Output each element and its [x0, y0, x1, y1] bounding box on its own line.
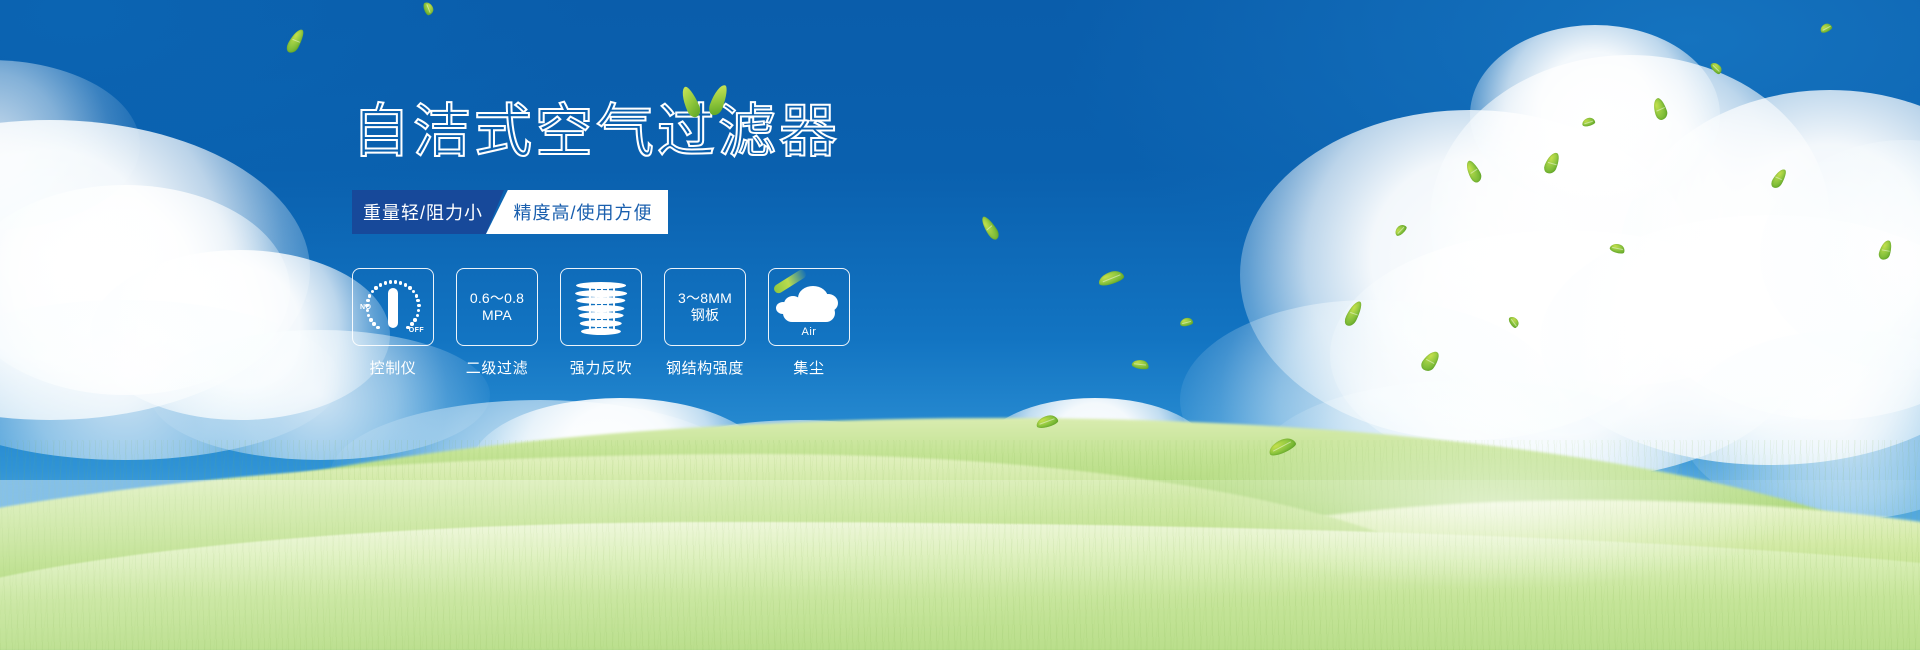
steel-plate-text: 3～8MM 钢板	[678, 290, 732, 324]
gauge-tick-dot	[394, 280, 397, 283]
gauge-tick-dot	[374, 286, 377, 289]
gauge-tick-dot	[376, 326, 379, 329]
grass-field	[0, 350, 1920, 650]
banner-content: 自洁式空气过滤器 重量轻/阻力小 精度高/使用方便 NO OFF 控制仪	[352, 96, 1072, 378]
filter-coil-icon	[573, 278, 629, 336]
feature-item: 3～8MM 钢板 钢结构强度	[664, 268, 746, 378]
coil-rib	[589, 284, 591, 330]
gauge-tick-dot	[417, 309, 420, 312]
air-label: Air	[776, 326, 842, 338]
feature-caption: 集尘	[768, 357, 850, 378]
gauge-tick-dot	[399, 281, 402, 284]
feature-list: NO OFF 控制仪 0.6～0.8 MPA 二级过滤 强力反吹	[352, 268, 1072, 378]
gauge-tick-dot	[417, 304, 420, 307]
gauge-tick-dot	[384, 281, 387, 284]
gauge-tick-dot	[367, 314, 370, 317]
coil-rib	[595, 284, 597, 330]
gauge-tick-dot	[404, 283, 407, 286]
coil-rib	[607, 284, 609, 330]
gauge-tick-dot	[366, 299, 369, 302]
hero-banner: 自洁式空气过滤器 重量轻/阻力小 精度高/使用方便 NO OFF 控制仪	[0, 0, 1920, 650]
title-row: 自洁式空气过滤器	[352, 96, 1072, 168]
feature-item: Air 集尘	[768, 268, 850, 378]
coil-rib	[613, 284, 615, 330]
feature-icon-box: NO OFF	[352, 268, 434, 346]
gauge-tick-dot	[406, 326, 409, 329]
feature-item: NO OFF 控制仪	[352, 268, 434, 378]
gauge-tick-dot	[408, 286, 411, 289]
tagline-pills: 重量轻/阻力小 精度高/使用方便	[352, 190, 672, 234]
tag-precision-convenience: 精度高/使用方便	[486, 190, 668, 234]
gauge-tick-dot	[415, 294, 418, 297]
gauge-tick-dot	[389, 280, 392, 283]
gauge-tick-dot	[410, 322, 413, 325]
feature-icon-box	[560, 268, 642, 346]
tag-weight-resistance: 重量轻/阻力小	[352, 190, 504, 234]
feature-caption: 二级过滤	[456, 357, 538, 378]
gauge-tick-dot	[369, 318, 372, 321]
gauge-tick-dot	[372, 322, 375, 325]
feature-icon-box: Air	[768, 268, 850, 346]
feature-icon-box: 3～8MM 钢板	[664, 268, 746, 346]
feature-caption: 控制仪	[352, 357, 434, 378]
coil-rib	[601, 284, 603, 330]
pressure-value-text: 0.6～0.8 MPA	[470, 290, 524, 324]
feature-caption: 钢结构强度	[664, 357, 746, 378]
gauge-tick-dot	[371, 290, 374, 293]
feature-item: 强力反吹	[560, 268, 642, 378]
gauge-icon: NO OFF	[360, 276, 426, 338]
gauge-tick-dot	[416, 299, 419, 302]
gauge-tick-dot	[368, 294, 371, 297]
gauge-tick-dot	[412, 290, 415, 293]
title-leaf-pair-icon	[682, 82, 740, 122]
feature-item: 0.6～0.8 MPA 二级过滤	[456, 268, 538, 378]
cloud-air-icon: Air	[776, 278, 842, 336]
gauge-tick-dot	[379, 283, 382, 286]
gauge-tick-dot	[413, 318, 416, 321]
gauge-off-label: OFF	[409, 327, 424, 334]
gauge-tick-dot	[366, 309, 369, 312]
feature-icon-box: 0.6～0.8 MPA	[456, 268, 538, 346]
feature-caption: 强力反吹	[560, 357, 642, 378]
gauge-tick-dot	[416, 314, 419, 317]
